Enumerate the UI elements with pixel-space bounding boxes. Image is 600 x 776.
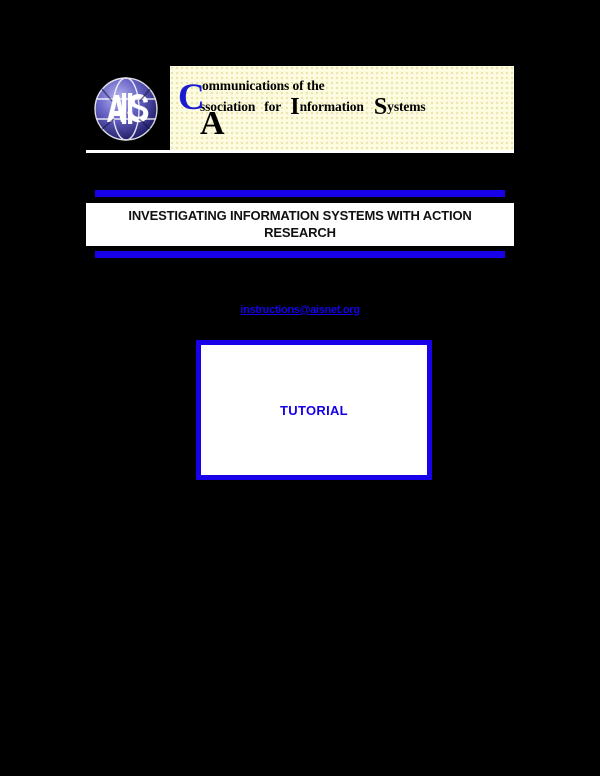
masthead-underline	[86, 150, 514, 153]
ais-globe-icon	[92, 75, 160, 143]
wordmark-line-1: C ommunications of the	[176, 78, 510, 94]
wordmark-systems-text: ystems	[387, 99, 425, 114]
title-rule-top	[95, 190, 505, 197]
journal-website-link[interactable]: instructions@aisnet.org	[240, 304, 359, 316]
wordmark-cap-i: I	[290, 94, 299, 120]
wordmark-information-text: nformation	[300, 99, 364, 114]
journal-link-row: instructions@aisnet.org	[0, 300, 600, 318]
wordmark-communications-text: ommunications of the	[202, 78, 325, 93]
masthead-title-panel: C ommunications of the A ssociation for …	[170, 66, 514, 152]
wordmark-cap-s: S	[374, 94, 387, 120]
journal-masthead: C ommunications of the A ssociation for …	[86, 66, 514, 152]
article-title-box: INVESTIGATING INFORMATION SYSTEMS WITH A…	[86, 203, 514, 246]
title-rule-bottom	[95, 251, 505, 258]
cais-wordmark: C ommunications of the A ssociation for …	[176, 78, 510, 119]
logo-panel	[86, 66, 170, 152]
tutorial-callout-box: TUTORIAL	[196, 340, 432, 480]
wordmark-for-text: for	[259, 99, 286, 114]
wordmark-line-2: A ssociation for Information Systems	[176, 95, 510, 119]
tutorial-label: TUTORIAL	[280, 403, 348, 418]
page-title: INVESTIGATING INFORMATION SYSTEMS WITH A…	[92, 208, 508, 241]
